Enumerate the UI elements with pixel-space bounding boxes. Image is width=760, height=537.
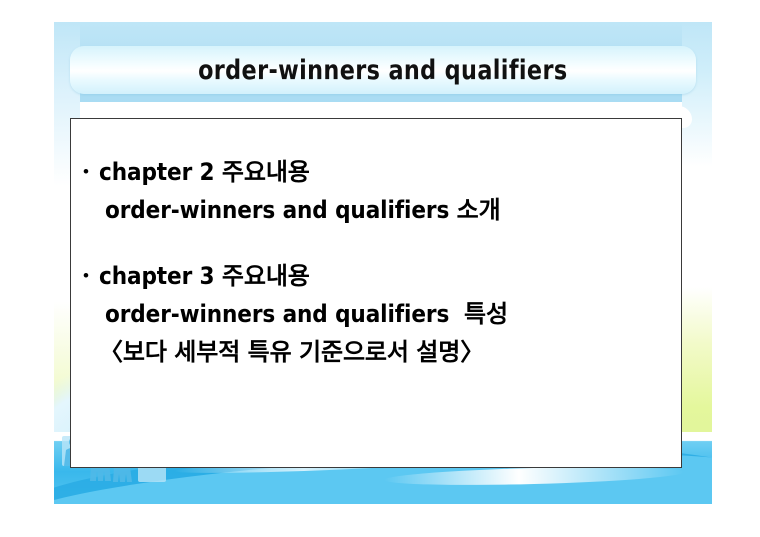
bullet-line: 〈보다 세부적 특유 기준으로서 설명〉 [99,333,657,371]
bullet-line: order-winners and qualifiers 소개 [105,191,657,229]
page-title: order-winners and qualifiers [198,55,567,86]
slide: order-winners and qualifiers • chapter 2… [54,22,712,504]
bullet-dot-icon: • [83,153,99,191]
content-text-box: • chapter 2 주요내용 order-winners and quali… [70,118,682,468]
bullet-block-chapter-2: • chapter 2 주요내용 order-winners and quali… [83,153,657,229]
right-gradient-strip [682,22,712,504]
bullet-line: chapter 2 주요내용 [99,153,657,191]
bullet-block-chapter-3: • chapter 3 주요내용 order-winners and quali… [83,257,657,371]
bullet-line: order-winners and qualifiers 특성 [105,295,657,333]
bullet-dot-icon: • [83,257,99,295]
bullet-line: chapter 3 주요내용 [99,257,657,295]
slide-title-plate: order-winners and qualifiers [70,46,696,94]
